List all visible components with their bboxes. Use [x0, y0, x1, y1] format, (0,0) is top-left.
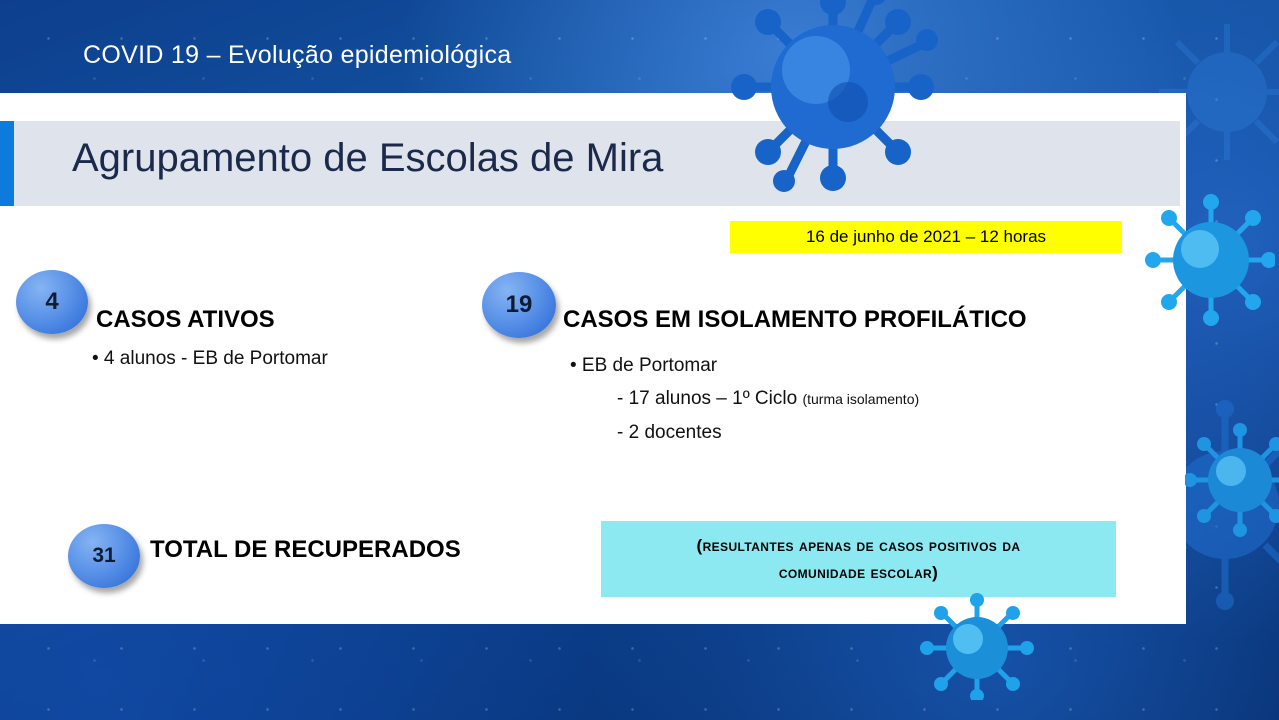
title-accent-bar — [0, 121, 14, 206]
slide-canvas: COVID 19 – Evolução epidemiológica Agrup… — [0, 0, 1279, 720]
heading-total-recuperados: TOTAL DE RECUPERADOS — [150, 536, 461, 564]
badge-casos-ativos-count: 4 — [16, 270, 88, 334]
heading-casos-ativos: CASOS ATIVOS — [96, 306, 275, 334]
list-item: - 2 docentes — [617, 422, 722, 444]
note-box: (resultantes apenas de casos positivos d… — [601, 521, 1116, 597]
list-item: • 4 alunos - EB de Portomar — [92, 348, 328, 370]
list-item-label: - 17 alunos – 1º Ciclo — [617, 388, 797, 409]
virus-right-lower-icon — [1185, 420, 1279, 540]
list-item: - 17 alunos – 1º Ciclo (turma isolamento… — [617, 388, 919, 410]
badge-recuperados-count: 31 — [68, 524, 140, 588]
page-title: Agrupamento de Escolas de Mira — [72, 136, 663, 181]
date-strip-text: 16 de junho de 2021 – 12 horas — [806, 227, 1046, 247]
date-strip: 16 de junho de 2021 – 12 horas — [730, 221, 1122, 253]
header-title: COVID 19 – Evolução epidemiológica — [83, 41, 512, 70]
note-line-2: comunidade escolar) — [779, 559, 938, 586]
badge-isolamento-count: 19 — [482, 272, 556, 338]
list-item-note: (turma isolamento) — [802, 391, 919, 407]
list-item: • EB de Portomar — [570, 355, 717, 377]
note-line-1: (resultantes apenas de casos positivos d… — [697, 532, 1021, 559]
heading-isolamento-profilatico: CASOS EM ISOLAMENTO PROFILÁTICO — [563, 306, 1027, 334]
